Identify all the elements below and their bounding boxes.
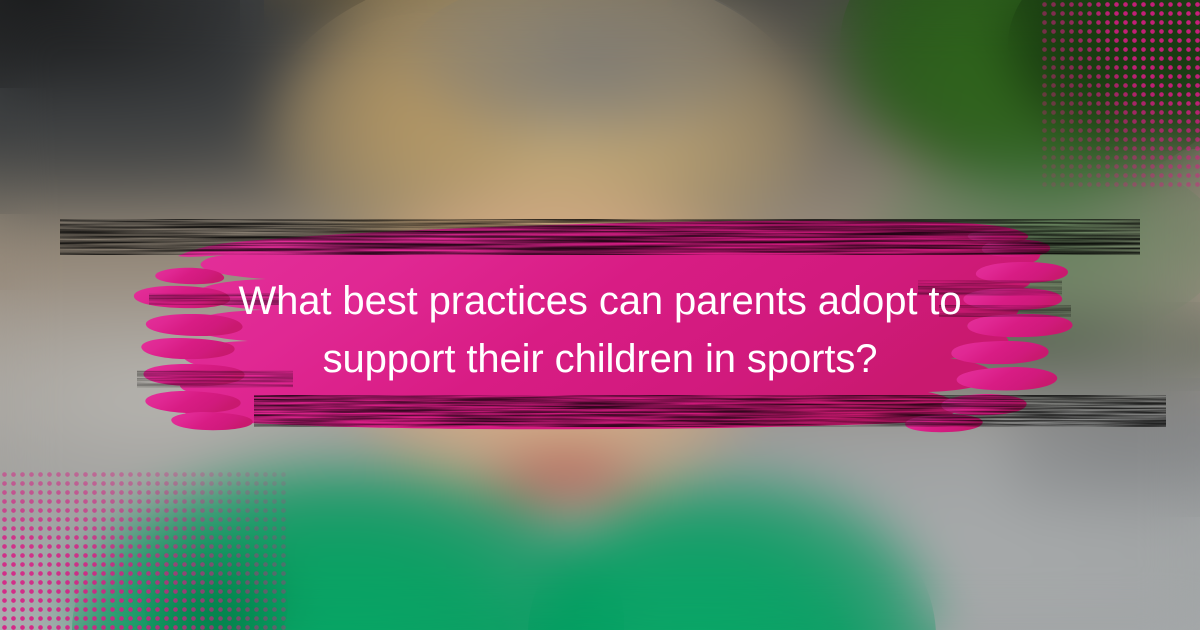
headline-line-2: support their children in sports? — [150, 330, 1050, 388]
headline-line-1: What best practices can parents adopt to — [150, 272, 1050, 330]
hero-card: What best practices can parents adopt to… — [0, 0, 1200, 630]
headline: What best practices can parents adopt to… — [0, 272, 1200, 388]
